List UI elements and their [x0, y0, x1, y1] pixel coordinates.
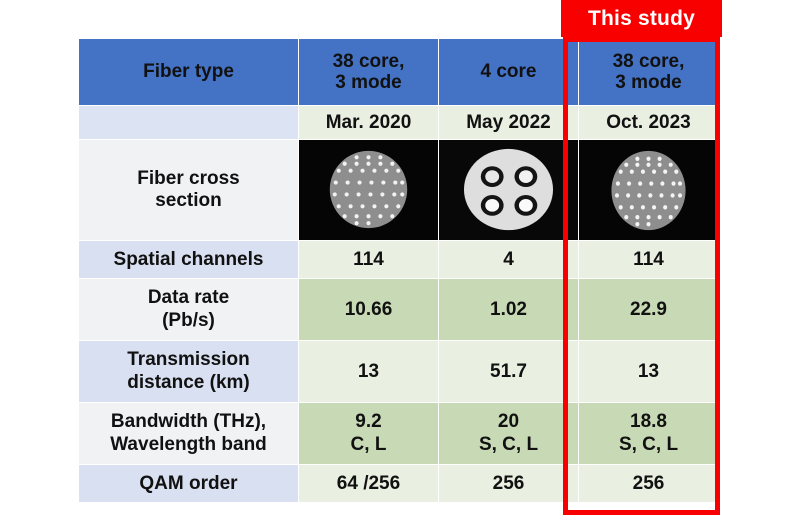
qam-order-col-3: 256	[579, 465, 719, 503]
header-row-label: Fiber type	[79, 39, 299, 106]
header-col-1-line1: 38 core,	[333, 51, 405, 72]
spatial-channels-col-2: 4	[439, 241, 579, 279]
header-col-2: 4 core	[439, 39, 579, 106]
row-label-spatial-channels: Spatial channels	[79, 241, 299, 279]
transmission-distance-col-2: 51.7	[439, 341, 579, 403]
cross-section-col-2	[439, 140, 579, 241]
bandwidth-col-2: 20 S, C, L	[439, 403, 579, 465]
header-col-3-line2: 3 mode	[615, 72, 682, 93]
header-col-1-line2: 3 mode	[335, 72, 402, 93]
bandwidth-value: 20	[498, 411, 519, 432]
header-col-3-line1: 38 core,	[613, 51, 685, 72]
table-row-data-rate: Data rate (Pb/s) 10.66 1.02 22.9	[79, 279, 719, 341]
row-label-line2: distance (km)	[127, 372, 249, 393]
table-row-qam-order: QAM order 64 /256 256 256	[79, 465, 719, 503]
4-core-cross-section-icon	[439, 140, 578, 240]
qam-order-col-1: 64 /256	[299, 465, 439, 503]
row-label-data-rate: Data rate (Pb/s)	[79, 279, 299, 341]
row-label-qam-order: QAM order	[79, 465, 299, 503]
header-col-3: 38 core, 3 mode	[579, 39, 719, 106]
cross-section-col-3	[579, 140, 719, 241]
row-label-transmission-distance: Transmission distance (km)	[79, 341, 299, 403]
row-label-line1: Transmission	[127, 349, 250, 370]
bandwidth-col-1: 9.2 C, L	[299, 403, 439, 465]
date-col-2: May 2022	[439, 106, 579, 140]
transmission-distance-col-3: 13	[579, 341, 719, 403]
spatial-channels-col-3: 114	[579, 241, 719, 279]
data-rate-col-3: 22.9	[579, 279, 719, 341]
row-label-line1: Data rate	[148, 287, 229, 308]
bandwidth-col-3: 18.8 S, C, L	[579, 403, 719, 465]
row-label-line2: (Pb/s)	[162, 310, 215, 331]
qam-order-col-2: 256	[439, 465, 579, 503]
date-col-1: Mar. 2020	[299, 106, 439, 140]
header-col-2-line1: 4 core	[481, 61, 537, 82]
wavelength-band-value: S, C, L	[619, 434, 678, 455]
fiber-comparison-table: Fiber type 38 core, 3 mode 4 core 38 cor…	[78, 38, 719, 503]
transmission-distance-col-1: 13	[299, 341, 439, 403]
row-label-line2: section	[155, 190, 222, 211]
bandwidth-value: 9.2	[355, 411, 381, 432]
row-label-fiber-cross-section: Fiber cross section	[79, 140, 299, 241]
header-col-1: 38 core, 3 mode	[299, 39, 439, 106]
38-core-3-mode-cross-section-icon	[299, 140, 438, 240]
38-core-3-mode-cross-section-icon	[579, 140, 718, 240]
data-rate-col-2: 1.02	[439, 279, 579, 341]
row-label-line2: Wavelength band	[110, 434, 267, 455]
wavelength-band-value: S, C, L	[479, 434, 538, 455]
table-header-row: Fiber type 38 core, 3 mode 4 core 38 cor…	[79, 39, 719, 106]
wavelength-band-value: C, L	[351, 434, 387, 455]
table-row-bandwidth: Bandwidth (THz), Wavelength band 9.2 C, …	[79, 403, 719, 465]
bandwidth-value: 18.8	[630, 411, 667, 432]
date-row-label	[79, 106, 299, 140]
this-study-banner: This study	[561, 0, 722, 37]
table-row-fiber-cross-section: Fiber cross section	[79, 140, 719, 241]
row-label-line1: Fiber cross	[137, 168, 239, 189]
spatial-channels-col-1: 114	[299, 241, 439, 279]
table-row-spatial-channels: Spatial channels 114 4 114	[79, 241, 719, 279]
data-rate-col-1: 10.66	[299, 279, 439, 341]
row-label-bandwidth: Bandwidth (THz), Wavelength band	[79, 403, 299, 465]
date-col-3: Oct. 2023	[579, 106, 719, 140]
cross-section-col-1	[299, 140, 439, 241]
table-date-row: Mar. 2020 May 2022 Oct. 2023	[79, 106, 719, 140]
table-row-transmission-distance: Transmission distance (km) 13 51.7 13	[79, 341, 719, 403]
row-label-line1: Bandwidth (THz),	[111, 411, 266, 432]
